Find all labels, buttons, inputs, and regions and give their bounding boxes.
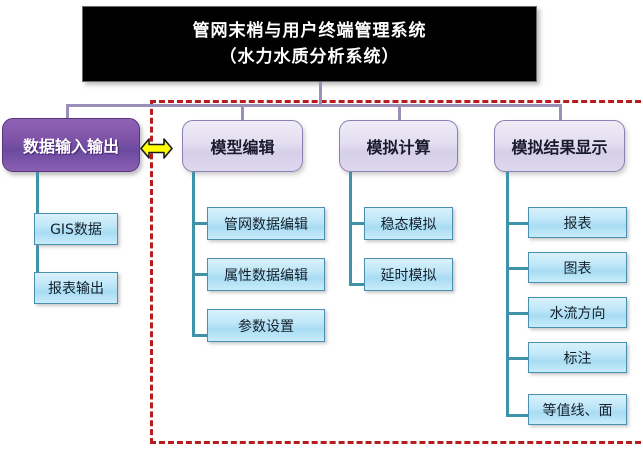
leaf-gis-data[interactable]: GIS数据	[34, 213, 118, 245]
leaf-label: 管网数据编辑	[224, 214, 308, 234]
leaf-pipe-network-data-edit[interactable]: 管网数据编辑	[207, 207, 325, 240]
leaf-label: 图表	[564, 258, 592, 278]
leaf-chart[interactable]: 图表	[528, 252, 627, 283]
branch-node-data-io[interactable]: 数据输入输出	[2, 118, 140, 172]
branch-node-simulation-calc[interactable]: 模拟计算	[339, 120, 458, 172]
tree-trunk-branch-3	[349, 172, 352, 286]
leaf-flow-direction[interactable]: 水流方向	[528, 297, 627, 328]
tree-trunk-branch-4	[506, 172, 509, 417]
tree-branch-4-child-3-link	[506, 312, 528, 315]
tree-branch-4-child-5-link	[506, 414, 528, 417]
branch-node-model-edit[interactable]: 模型编辑	[182, 120, 303, 172]
branch-node-label: 数据输入输出	[23, 133, 119, 157]
leaf-label: 水流方向	[550, 303, 606, 323]
double-headed-arrow-icon	[140, 136, 173, 161]
leaf-label: GIS数据	[50, 219, 102, 239]
connector-drop-branch-3	[398, 104, 401, 120]
connector-horizontal-bus	[66, 104, 322, 107]
leaf-extended-period-simulation[interactable]: 延时模拟	[364, 258, 453, 291]
leaf-parameter-settings[interactable]: 参数设置	[207, 309, 325, 342]
connector-title-stem	[319, 82, 322, 106]
tree-trunk-branch-2	[192, 172, 195, 337]
tree-branch-4-child-1-link	[506, 222, 528, 225]
diagram-canvas: 管网末梢与用户终端管理系统 （水力水质分析系统） 数据输入输出 GIS数据 报表…	[0, 0, 643, 463]
tree-branch-4-child-4-link	[506, 357, 528, 360]
system-title-line-1: 管网末梢与用户终端管理系统	[193, 18, 427, 44]
branch-node-label: 模型编辑	[210, 134, 274, 158]
leaf-label: 延时模拟	[381, 265, 437, 285]
leaf-label: 属性数据编辑	[224, 265, 308, 285]
leaf-label: 标注	[564, 348, 592, 368]
leaf-report[interactable]: 报表	[528, 207, 627, 238]
leaf-attribute-data-edit[interactable]: 属性数据编辑	[207, 258, 325, 291]
connector-drop-branch-2	[241, 104, 244, 120]
leaf-label: 参数设置	[238, 316, 294, 336]
leaf-report-output[interactable]: 报表输出	[34, 272, 118, 304]
connector-horizontal-bus-right	[319, 104, 562, 107]
system-title-box: 管网末梢与用户终端管理系统 （水力水质分析系统）	[82, 6, 537, 82]
leaf-annotation[interactable]: 标注	[528, 342, 627, 373]
tree-branch-4-child-2-link	[506, 267, 528, 270]
branch-node-result-display[interactable]: 模拟结果显示	[494, 120, 625, 172]
branch-node-label: 模拟计算	[366, 134, 430, 158]
leaf-label: 等值线、面	[543, 400, 613, 420]
leaf-label: 报表输出	[48, 278, 104, 298]
leaf-steady-state-simulation[interactable]: 稳态模拟	[364, 207, 453, 240]
system-title-line-2: （水力水质分析系统）	[220, 44, 400, 70]
leaf-label: 报表	[564, 213, 592, 233]
leaf-label: 稳态模拟	[381, 214, 437, 234]
branch-node-label: 模拟结果显示	[511, 134, 607, 158]
leaf-contour-line-surface[interactable]: 等值线、面	[528, 394, 627, 425]
connector-drop-branch-4	[559, 104, 562, 120]
